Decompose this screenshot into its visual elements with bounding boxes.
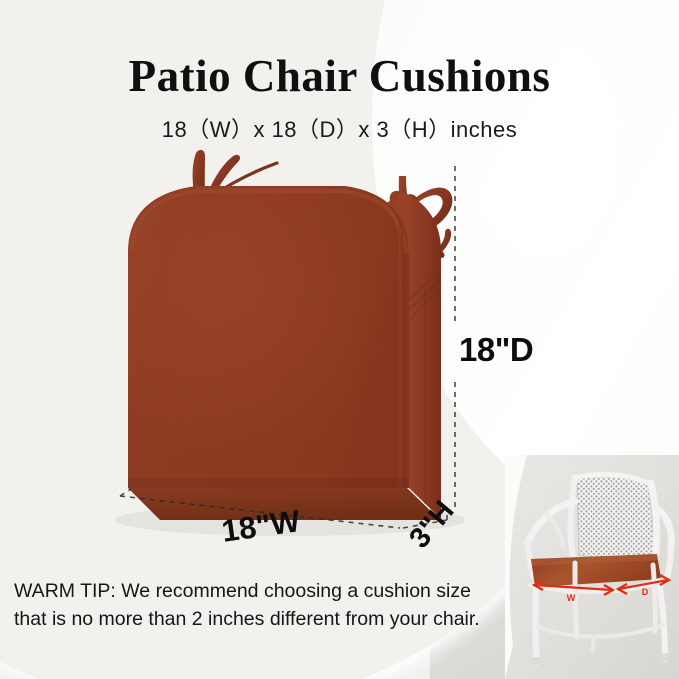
cushion-bottom-shade — [128, 478, 409, 488]
guide-width-left-tick — [120, 489, 131, 496]
cushion-face-sheen — [128, 186, 409, 488]
chair-inset-photo: W D — [505, 455, 679, 679]
inset-arrow-label-d: D — [642, 587, 649, 597]
chair-leg-front-left — [535, 586, 537, 663]
chair-leg-rear-right — [653, 565, 655, 631]
product-infographic: Patio Chair Cushions 18（W）x 18（D）x 3（H）i… — [0, 0, 679, 679]
inset-arrow-label-w: W — [567, 593, 576, 603]
warm-tip-line-1: WARM TIP: We recommend choosing a cushio… — [14, 578, 514, 606]
warm-tip-line-2: that is no more than 2 inches different … — [14, 606, 514, 634]
chair-foot-cap-right — [660, 653, 669, 661]
page-subtitle: 18（W）x 18（D）x 3（H）inches — [0, 112, 679, 144]
dimension-label-depth: 18"D — [459, 331, 533, 369]
chair-foot-cap-left — [532, 657, 541, 665]
chair-leg-rear-left — [575, 563, 577, 637]
chair-backrest — [577, 475, 655, 558]
warm-tip-note: WARM TIP: We recommend choosing a cushio… — [14, 578, 514, 633]
page-title: Patio Chair Cushions — [0, 50, 679, 102]
chair-inset-svg: W D — [505, 455, 679, 679]
